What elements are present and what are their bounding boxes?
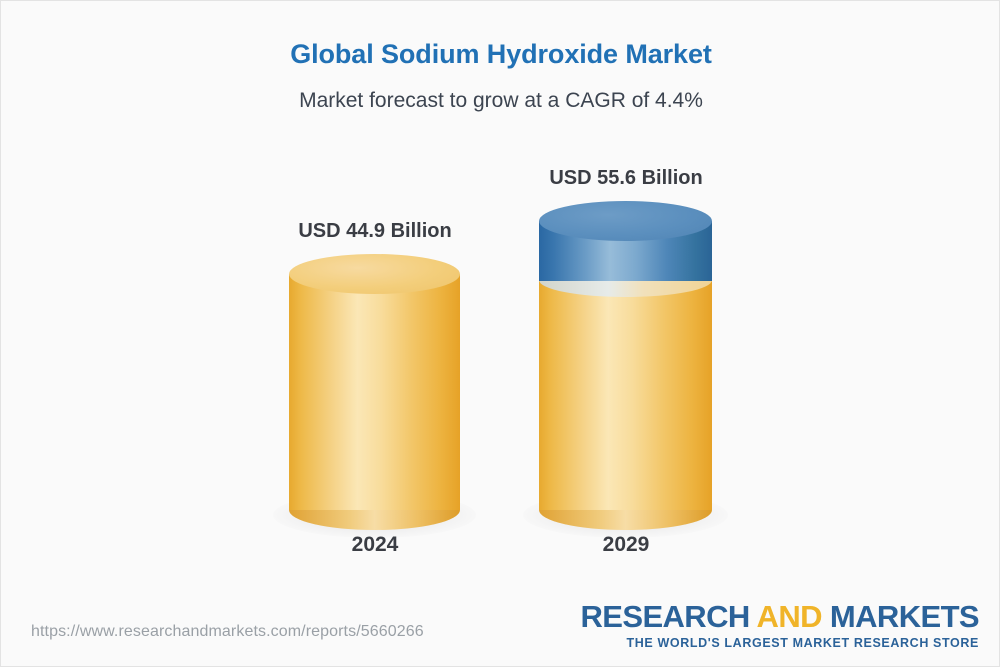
cylinder-body-base-segment [289, 274, 460, 510]
category-label-2024: 2024 [239, 533, 511, 557]
brand-wordmark-and: AND [757, 599, 822, 634]
bar-cylinder-2029[interactable] [539, 201, 712, 534]
category-label-2029: 2029 [490, 533, 762, 557]
chart-title: Global Sodium Hydroxide Market [1, 39, 1000, 70]
brand-wordmark-markets: MARKETS [822, 599, 979, 634]
cylinder-top-ellipse [539, 201, 712, 241]
cylinder-top-ellipse [289, 254, 460, 294]
chart-subtitle: Market forecast to grow at a CAGR of 4.4… [1, 89, 1000, 113]
source-url[interactable]: https://www.researchandmarkets.com/repor… [31, 623, 424, 641]
cylinder-body-base-segment [539, 281, 712, 510]
value-label-2024: USD 44.9 Billion [239, 220, 511, 243]
brand-logo[interactable]: RESEARCH AND MARKETS THE WORLD'S LARGEST… [581, 601, 980, 650]
chart-canvas: Global Sodium Hydroxide Market Market fo… [0, 0, 1000, 667]
bar-cylinder-2024[interactable] [289, 254, 460, 534]
value-label-2029: USD 55.6 Billion [490, 167, 762, 190]
brand-wordmark-research: RESEARCH [581, 599, 757, 634]
brand-wordmark: RESEARCH AND MARKETS [581, 601, 980, 634]
brand-tagline: THE WORLD'S LARGEST MARKET RESEARCH STOR… [581, 636, 980, 650]
